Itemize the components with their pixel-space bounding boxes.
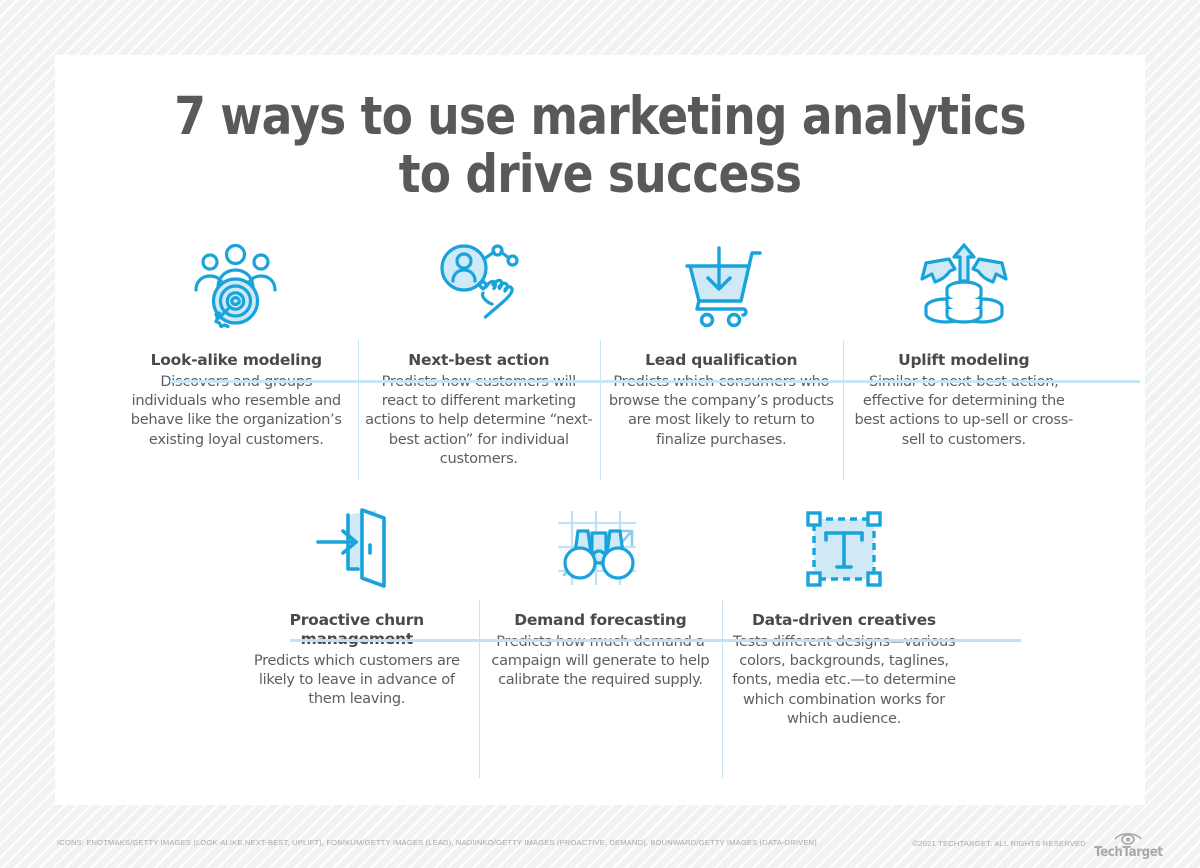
binoculars-grid-trend-icon xyxy=(552,507,648,589)
row-2-divider xyxy=(290,639,1021,642)
people-target-fingerprint-icon xyxy=(188,243,284,329)
shopping-cart-download-icon xyxy=(677,245,765,329)
techtarget-eye-icon xyxy=(1112,830,1146,845)
techtarget-wordmark: TechTarget xyxy=(1094,845,1163,860)
feature-card-next-best-action: Next-best action Predicts how customers … xyxy=(358,233,601,468)
copyright-notice: ©2021 TECHTARGET. ALL RIGHTS RESERVED xyxy=(912,839,1086,851)
icon-wrapper xyxy=(312,493,402,593)
techtarget-logo: TechTarget xyxy=(1094,830,1148,860)
icon-credits: ICONS: ENOTMAKS/GETTY IMAGES (LOOK-ALIKE… xyxy=(57,838,817,847)
feature-heading: Demand forecasting xyxy=(514,611,686,630)
feature-heading: Uplift modeling xyxy=(898,351,1029,370)
feature-heading: Next-best action xyxy=(408,351,549,370)
icon-wrapper xyxy=(188,233,284,333)
feature-card-data-driven-creatives: Data-driven creatives Tests different de… xyxy=(722,493,966,728)
feature-description: Similar to next-best action, effective f… xyxy=(843,372,1086,449)
row-1-divider xyxy=(170,380,1140,383)
feature-description: Discovers and groups individuals who res… xyxy=(115,372,358,449)
feature-heading: Look-alike modeling xyxy=(151,351,322,370)
feature-heading: Lead qualification xyxy=(645,351,797,370)
feature-card-uplift-modeling: Uplift modeling Similar to next-best act… xyxy=(843,233,1086,468)
feature-card-proactive-churn-management: Proactive churn management Predicts whic… xyxy=(235,493,479,728)
feature-row-2: Proactive churn management Predicts whic… xyxy=(235,493,966,728)
feature-card-look-alike-modeling: Look-alike modeling Discovers and groups… xyxy=(115,233,358,468)
feature-description: Tests different designs—various colors, … xyxy=(722,632,966,728)
page-title-line-1: 7 ways to use marketing analytics xyxy=(131,88,1068,146)
infographic-card: 7 ways to use marketing analytics to dri… xyxy=(55,55,1145,805)
feature-card-demand-forecasting: Demand forecasting Predicts how much dem… xyxy=(479,493,723,728)
footer-branding: ©2021 TECHTARGET. ALL RIGHTS RESERVED Te… xyxy=(912,830,1148,860)
coins-arrows-up-icon xyxy=(916,243,1012,329)
page-title-line-2: to drive success xyxy=(131,146,1068,204)
icon-wrapper xyxy=(552,493,648,593)
icon-wrapper xyxy=(804,493,884,593)
person-avatar-hand-pointer-icon xyxy=(431,241,527,329)
feature-row-1: Look-alike modeling Discovers and groups… xyxy=(115,233,1085,468)
feature-heading: Proactive churn management xyxy=(235,611,479,649)
page-title: 7 ways to use marketing analytics to dri… xyxy=(131,88,1068,204)
feature-card-lead-qualification: Lead qualification Predicts which consum… xyxy=(600,233,843,468)
feature-description: Predicts which customers are likely to l… xyxy=(235,651,479,709)
infographic-canvas: 7 ways to use marketing analytics to dri… xyxy=(0,0,1200,868)
icon-wrapper xyxy=(431,233,527,333)
feature-description: Predicts which consumers who browse the … xyxy=(600,372,843,449)
text-tool-selection-icon xyxy=(804,509,884,589)
door-exit-arrow-icon xyxy=(312,507,402,589)
icon-wrapper xyxy=(916,233,1012,333)
feature-description: Predicts how customers will react to dif… xyxy=(358,372,601,468)
icon-wrapper xyxy=(677,233,765,333)
feature-heading: Data-driven creatives xyxy=(752,611,936,630)
